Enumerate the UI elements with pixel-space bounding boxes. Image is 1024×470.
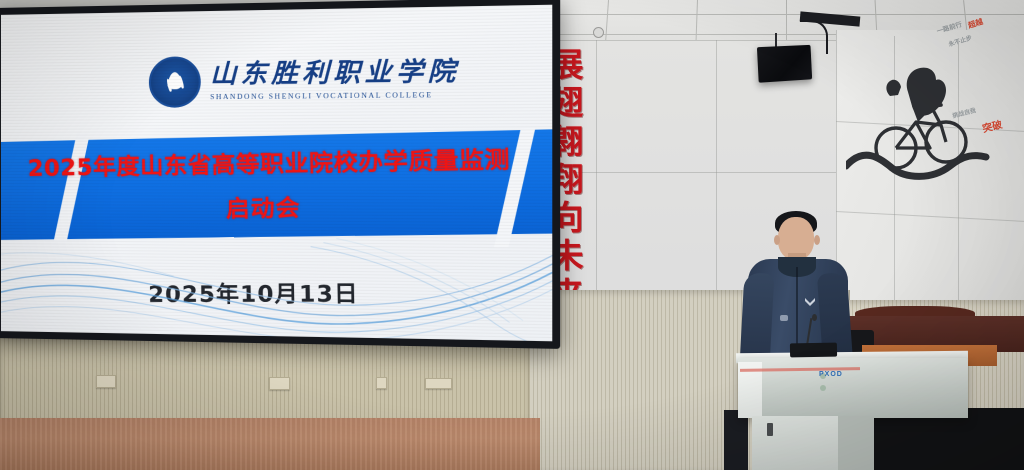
slide-wave-graphic (1, 230, 552, 341)
podium-base-side (838, 416, 874, 470)
microphone-icon (812, 314, 817, 321)
wall-outlet (269, 377, 290, 390)
podium-brand-label: PXOD (819, 371, 843, 378)
college-emblem-icon (149, 56, 201, 108)
speaker-cable (800, 20, 828, 54)
podium-control-screen[interactable] (790, 343, 837, 358)
presenter-left-arm (740, 272, 775, 365)
slide-surface: 山东胜利职业学院 SHANDONG SHENGLI VOCATIONAL COL… (1, 5, 552, 342)
jacket-badge (780, 315, 788, 321)
college-name-cn: 山东胜利职业学院 (210, 60, 459, 90)
sportswear-logo-icon (804, 297, 816, 306)
presenter-ear (774, 235, 780, 245)
wall-outlet (96, 375, 116, 388)
presenter-ear (814, 235, 820, 245)
college-name-en: SHANDONG SHENGLI VOCATIONAL COLLEGE (210, 90, 459, 100)
projection-screen: 山东胜利职业学院 SHANDONG SHENGLI VOCATIONAL COL… (0, 0, 560, 349)
wall-outlet (425, 378, 452, 389)
college-logo: 山东胜利职业学院 SHANDONG SHENGLI VOCATIONAL COL… (149, 53, 460, 108)
podium-slot (767, 423, 773, 436)
ceiling-sensor-icon (593, 27, 604, 38)
presentation-photo: 展 翅 翱 翔 向 未 来 一路前行 超越 永不止步 挑战自我 突破 (0, 0, 1024, 470)
podium-shadow-leg (724, 410, 748, 470)
floor-texture (0, 418, 540, 470)
podium-indicator (820, 385, 826, 391)
slide-title-line2: 启动会 (21, 187, 519, 227)
slide-title: 2025年度山东省高等职业院校办学质量监测 启动会 (20, 141, 519, 226)
wall-outlet (376, 377, 387, 389)
